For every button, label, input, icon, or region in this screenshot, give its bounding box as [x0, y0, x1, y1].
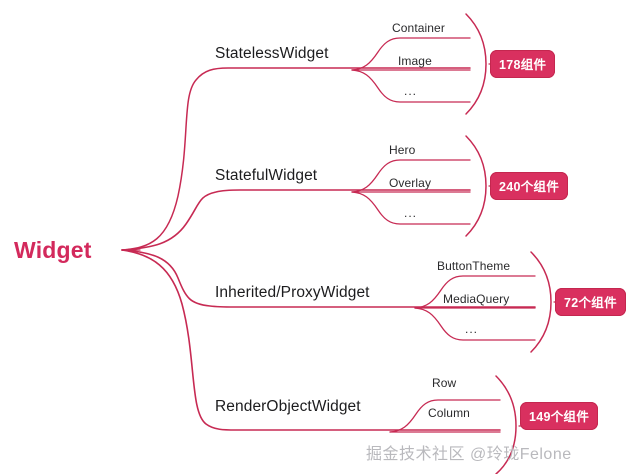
leaf-label-hero[interactable]: Hero [389, 143, 415, 157]
leaf-label-container[interactable]: Container [392, 21, 445, 35]
badge-stateful-count[interactable]: 240个组件 [490, 172, 568, 200]
branch-label-stateful-widget[interactable]: StatefulWidget [215, 167, 317, 185]
badge-inherited-count[interactable]: 72个组件 [555, 288, 626, 316]
branch-label-render-object-widget[interactable]: RenderObjectWidget [215, 398, 361, 416]
branch-label-stateless-widget[interactable]: StatelessWidget [215, 45, 329, 63]
badge-render-object-count[interactable]: 149个组件 [520, 402, 598, 430]
leaf-label-stateful-more[interactable]: ... [404, 206, 417, 220]
root-node-widget[interactable]: Widget [14, 237, 92, 264]
mindmap-canvas: Widget StatelessWidget Container Image .… [0, 0, 631, 474]
leaf-label-row[interactable]: Row [432, 376, 456, 390]
watermark-text: 掘金技术社区 @玲珑Felone [366, 440, 572, 464]
leaf-label-column[interactable]: Column [428, 406, 470, 420]
badge-stateless-count[interactable]: 178组件 [490, 50, 555, 78]
leaf-label-stateless-more[interactable]: ... [404, 84, 417, 98]
leaf-label-image[interactable]: Image [398, 54, 432, 68]
leaf-label-inherited-more[interactable]: ... [465, 322, 478, 336]
leaf-label-button-theme[interactable]: ButtonTheme [437, 259, 510, 273]
branch-label-inherited-proxy-widget[interactable]: Inherited/ProxyWidget [215, 284, 370, 302]
leaf-label-overlay[interactable]: Overlay [389, 176, 431, 190]
leaf-label-media-query[interactable]: MediaQuery [443, 292, 509, 306]
